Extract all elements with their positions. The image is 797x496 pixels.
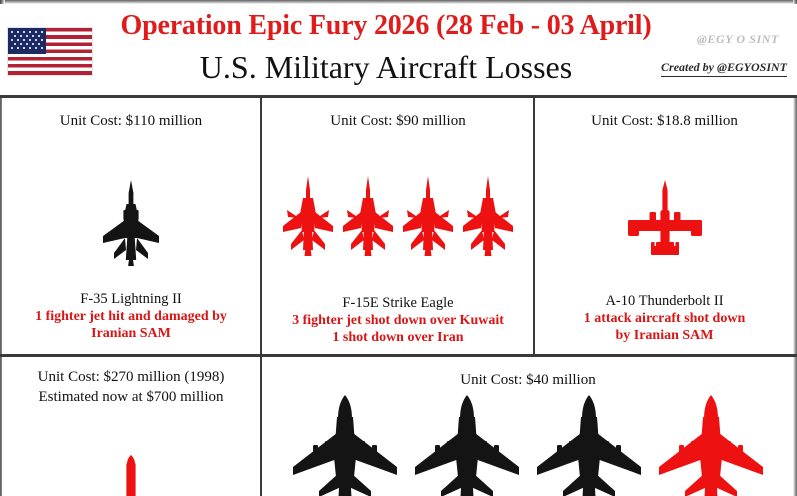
f15e-fighter-icon — [401, 176, 455, 256]
aircraft-icon-group — [2, 180, 260, 266]
aircraft-caption: A-10 Thunderbolt II 1 attack aircraft sh… — [536, 292, 793, 344]
loss-note-line-1: 1 fighter jet hit and damaged by — [2, 308, 260, 325]
unit-cost-label-line-2: Estimated now at $700 million — [2, 387, 260, 407]
loss-note-line-2: 1 shot down over Iran — [263, 329, 533, 346]
aircraft-cell-a10: Unit Cost: $18.8 million — [536, 98, 793, 354]
aircraft-cell-f35: Unit Cost: $110 million — [2, 98, 260, 354]
loss-note-line-2: by Iranian SAM — [536, 327, 793, 344]
transport-aircraft-icon — [411, 393, 523, 496]
f35-fighter-icon — [100, 180, 162, 266]
f15e-fighter-icon — [461, 176, 515, 256]
aircraft-icon-group — [263, 393, 793, 496]
aircraft-cell-bomber: Unit Cost: $270 million (1998) Estimated… — [2, 357, 260, 496]
infographic-canvas: Operation Epic Fury 2026 (28 Feb - 03 Ap… — [0, 0, 797, 496]
us-flag-icon — [8, 28, 92, 75]
transport-aircraft-icon — [289, 393, 401, 496]
f15e-fighter-icon — [341, 176, 395, 256]
bomber-nose-icon — [120, 455, 142, 496]
unit-cost-label-line-1: Unit Cost: $270 million (1998) — [2, 367, 260, 387]
loss-note-line-2: Iranian SAM — [2, 325, 260, 342]
unit-cost-label: Unit Cost: $40 million — [263, 370, 793, 390]
grid-rule-v-row1-a — [260, 97, 262, 355]
unit-cost-label: Unit Cost: $18.8 million — [536, 111, 793, 131]
page-subtitle: U.S. Military Aircraft Losses — [96, 48, 676, 86]
page-title: Operation Epic Fury 2026 (28 Feb - 03 Ap… — [96, 10, 676, 42]
watermark-handle: @EGY O SINT — [697, 32, 779, 47]
unit-cost-label: Unit Cost: $110 million — [2, 111, 260, 131]
flag-canton — [8, 28, 46, 54]
transport-aircraft-icon — [655, 393, 767, 496]
aircraft-name: F-35 Lightning II — [2, 290, 260, 308]
flag-stars — [10, 30, 44, 52]
aircraft-icon-group — [2, 455, 260, 496]
aircraft-caption: F-35 Lightning II 1 fighter jet hit and … — [2, 290, 260, 342]
aircraft-name: F-15E Strike Eagle — [263, 294, 533, 312]
aircraft-cell-f15e: Unit Cost: $90 million — [263, 98, 533, 354]
loss-note-line-1: 1 attack aircraft shot down — [536, 310, 793, 327]
f15e-fighter-icon — [281, 176, 335, 256]
aircraft-icon-group — [536, 178, 793, 260]
aircraft-cell-transport: Unit Cost: $40 million — [263, 357, 793, 496]
watermark-credit: Created by @EGYOSINT — [661, 60, 787, 77]
grid-rule-v-row2-a — [260, 356, 262, 496]
aircraft-caption: F-15E Strike Eagle 3 fighter jet shot do… — [263, 294, 533, 346]
unit-cost-label: Unit Cost: $90 million — [263, 111, 533, 131]
aircraft-icon-group — [263, 176, 533, 256]
loss-note-line-1: 3 fighter jet shot down over Kuwait — [263, 312, 533, 329]
header: Operation Epic Fury 2026 (28 Feb - 03 Ap… — [0, 4, 797, 96]
aircraft-name: A-10 Thunderbolt II — [536, 292, 793, 310]
transport-aircraft-icon — [533, 393, 645, 496]
a10-attack-aircraft-icon — [626, 180, 704, 260]
grid-rule-v-row1-b — [533, 97, 535, 355]
